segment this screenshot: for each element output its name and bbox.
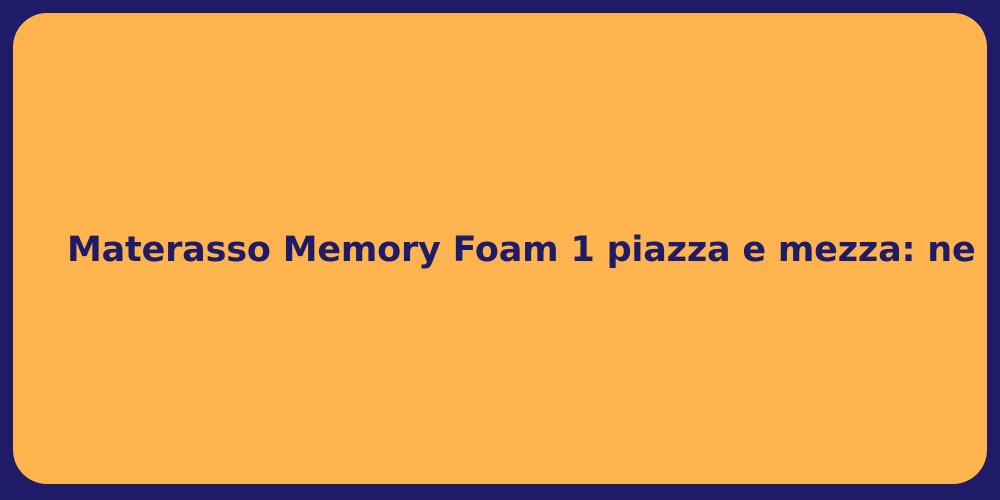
page-title: Materasso Memory Foam 1 piazza e mezza: …	[13, 230, 1000, 270]
article-hero-card: Materasso Memory Foam 1 piazza e mezza: …	[13, 13, 987, 484]
page-backdrop: Materasso Memory Foam 1 piazza e mezza: …	[0, 0, 1000, 500]
